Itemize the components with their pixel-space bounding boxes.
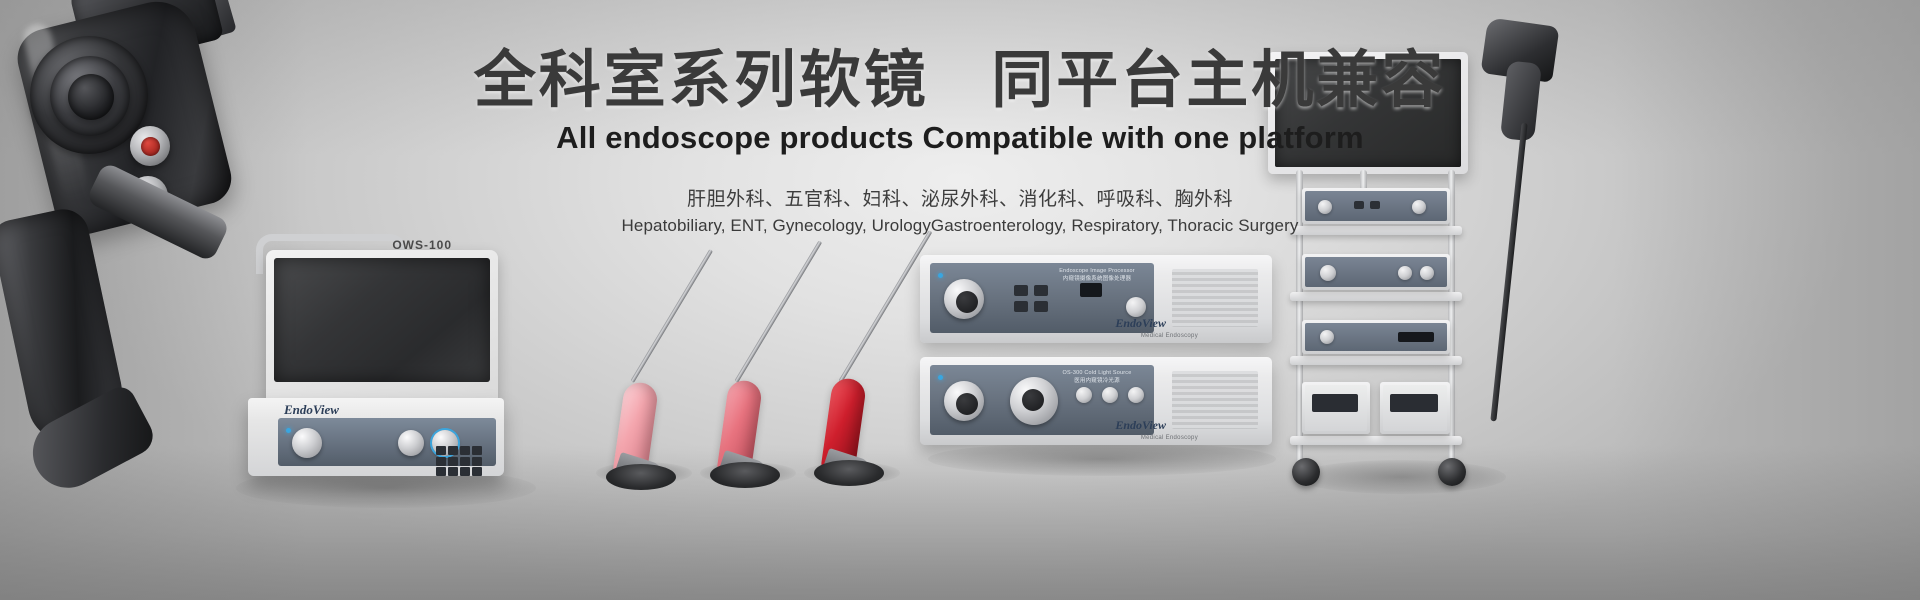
processor-brand-label: EndoView [1115,316,1166,331]
cart-unit-4 [1302,382,1370,434]
workstation-monitor: OWS-100 [266,250,498,402]
keypad-key [436,457,446,466]
light-source-brightness-dial [1010,377,1058,425]
light-source-button-2 [1102,387,1118,403]
keypad-key [472,446,482,455]
image-workstation: OWS-100 EndoView [232,250,504,490]
cart-unit-3 [1302,320,1450,354]
light-source-vent [1172,371,1258,429]
page-title: 全科室系列软镜 同平台主机兼容 [0,48,1920,114]
cart-unit-2-knob-b [1420,266,1434,280]
processor-sub-label: Medical Endoscopy [1141,333,1198,339]
light-source-title-cn: 医用内窥镜冷光源 [1042,376,1152,384]
cart-unit-5-display [1390,394,1438,412]
cart-unit-3-dial [1320,330,1334,344]
processor-power-led [938,273,943,278]
workstation-power-led [286,428,291,433]
departments-english: Hepatobiliary, ENT, Gynecology, UrologyG… [0,216,1920,236]
departments-chinese: 肝胆外科、五官科、妇科、泌尿外科、消化科、呼吸科、胸外科 [0,184,1920,211]
instrument-shaft [838,230,932,383]
light-source-button-1 [1076,387,1092,403]
workstation-dial-1 [292,428,322,458]
keypad-key [448,446,458,455]
light-source-power-led [938,375,943,380]
light-source-brand-label: EndoView [1115,418,1166,433]
keypad-key [448,457,458,466]
workstation-model-label: OWS-100 [392,238,452,252]
headline-part-2: 同平台主机兼容 [991,46,1446,115]
keypad-key [460,457,470,466]
workstation-brand-label: EndoView [284,402,339,418]
keypad-key [436,467,446,476]
processor-knob [1126,297,1146,317]
workstation-control-panel [278,418,496,466]
cart-unit-4-display [1312,394,1358,412]
image-processor-unit: Endoscope Image Processor 内窥镜摄像系统图像处理器 E… [920,255,1272,343]
cart-caster-left [1292,458,1320,486]
instrument-stand [814,460,884,486]
cart-unit-2 [1302,254,1450,290]
processor-usb-port [1080,283,1102,297]
keypad-key [472,467,482,476]
processor-button-3 [1014,301,1028,312]
cart-unit-3-display [1398,332,1434,342]
light-source-output-dial [944,381,984,421]
workstation-display-glass [274,258,490,382]
processor-title-cn: 内窥镜摄像系统图像处理器 [1042,274,1152,282]
banner-stage: 全科室系列软镜 同平台主机兼容 All endoscope products C… [0,0,1920,600]
processor-button-4 [1034,301,1048,312]
keypad-key [460,467,470,476]
processor-title: Endoscope Image Processor 内窥镜摄像系统图像处理器 [1042,268,1152,282]
processor-button-2 [1034,285,1048,296]
processor-button-1 [1014,285,1028,296]
keypad-key [448,467,458,476]
light-source-sub-label: Medical Endoscopy [1141,435,1198,441]
workstation-base: EndoView [248,398,504,476]
stacked-units: Endoscope Image Processor 内窥镜摄像系统图像处理器 E… [920,255,1272,455]
page-subtitle: All endoscope products Compatible with o… [0,120,1920,156]
headline-part-1: 全科室系列软镜 [474,46,929,115]
rigid-instrument-red [712,238,882,478]
workstation-keypad [436,446,482,476]
processor-vent [1172,269,1258,327]
light-source-button-3 [1128,387,1144,403]
light-source-unit: OS-300 Cold Light Source 医用内窥镜冷光源 EndoVi… [920,357,1272,445]
cart-unit-2-knob-a [1398,266,1412,280]
light-source-title: OS-300 Cold Light Source 医用内窥镜冷光源 [1042,370,1152,384]
keypad-key [460,446,470,455]
cart-unit-2-dial [1320,265,1336,281]
keypad-key [436,446,446,455]
workstation-dial-2 [398,430,424,456]
processor-main-dial [944,279,984,319]
keypad-key [472,457,482,466]
banner-copy: 全科室系列软镜 同平台主机兼容 All endoscope products C… [0,48,1920,236]
cart-caster-right [1438,458,1466,486]
